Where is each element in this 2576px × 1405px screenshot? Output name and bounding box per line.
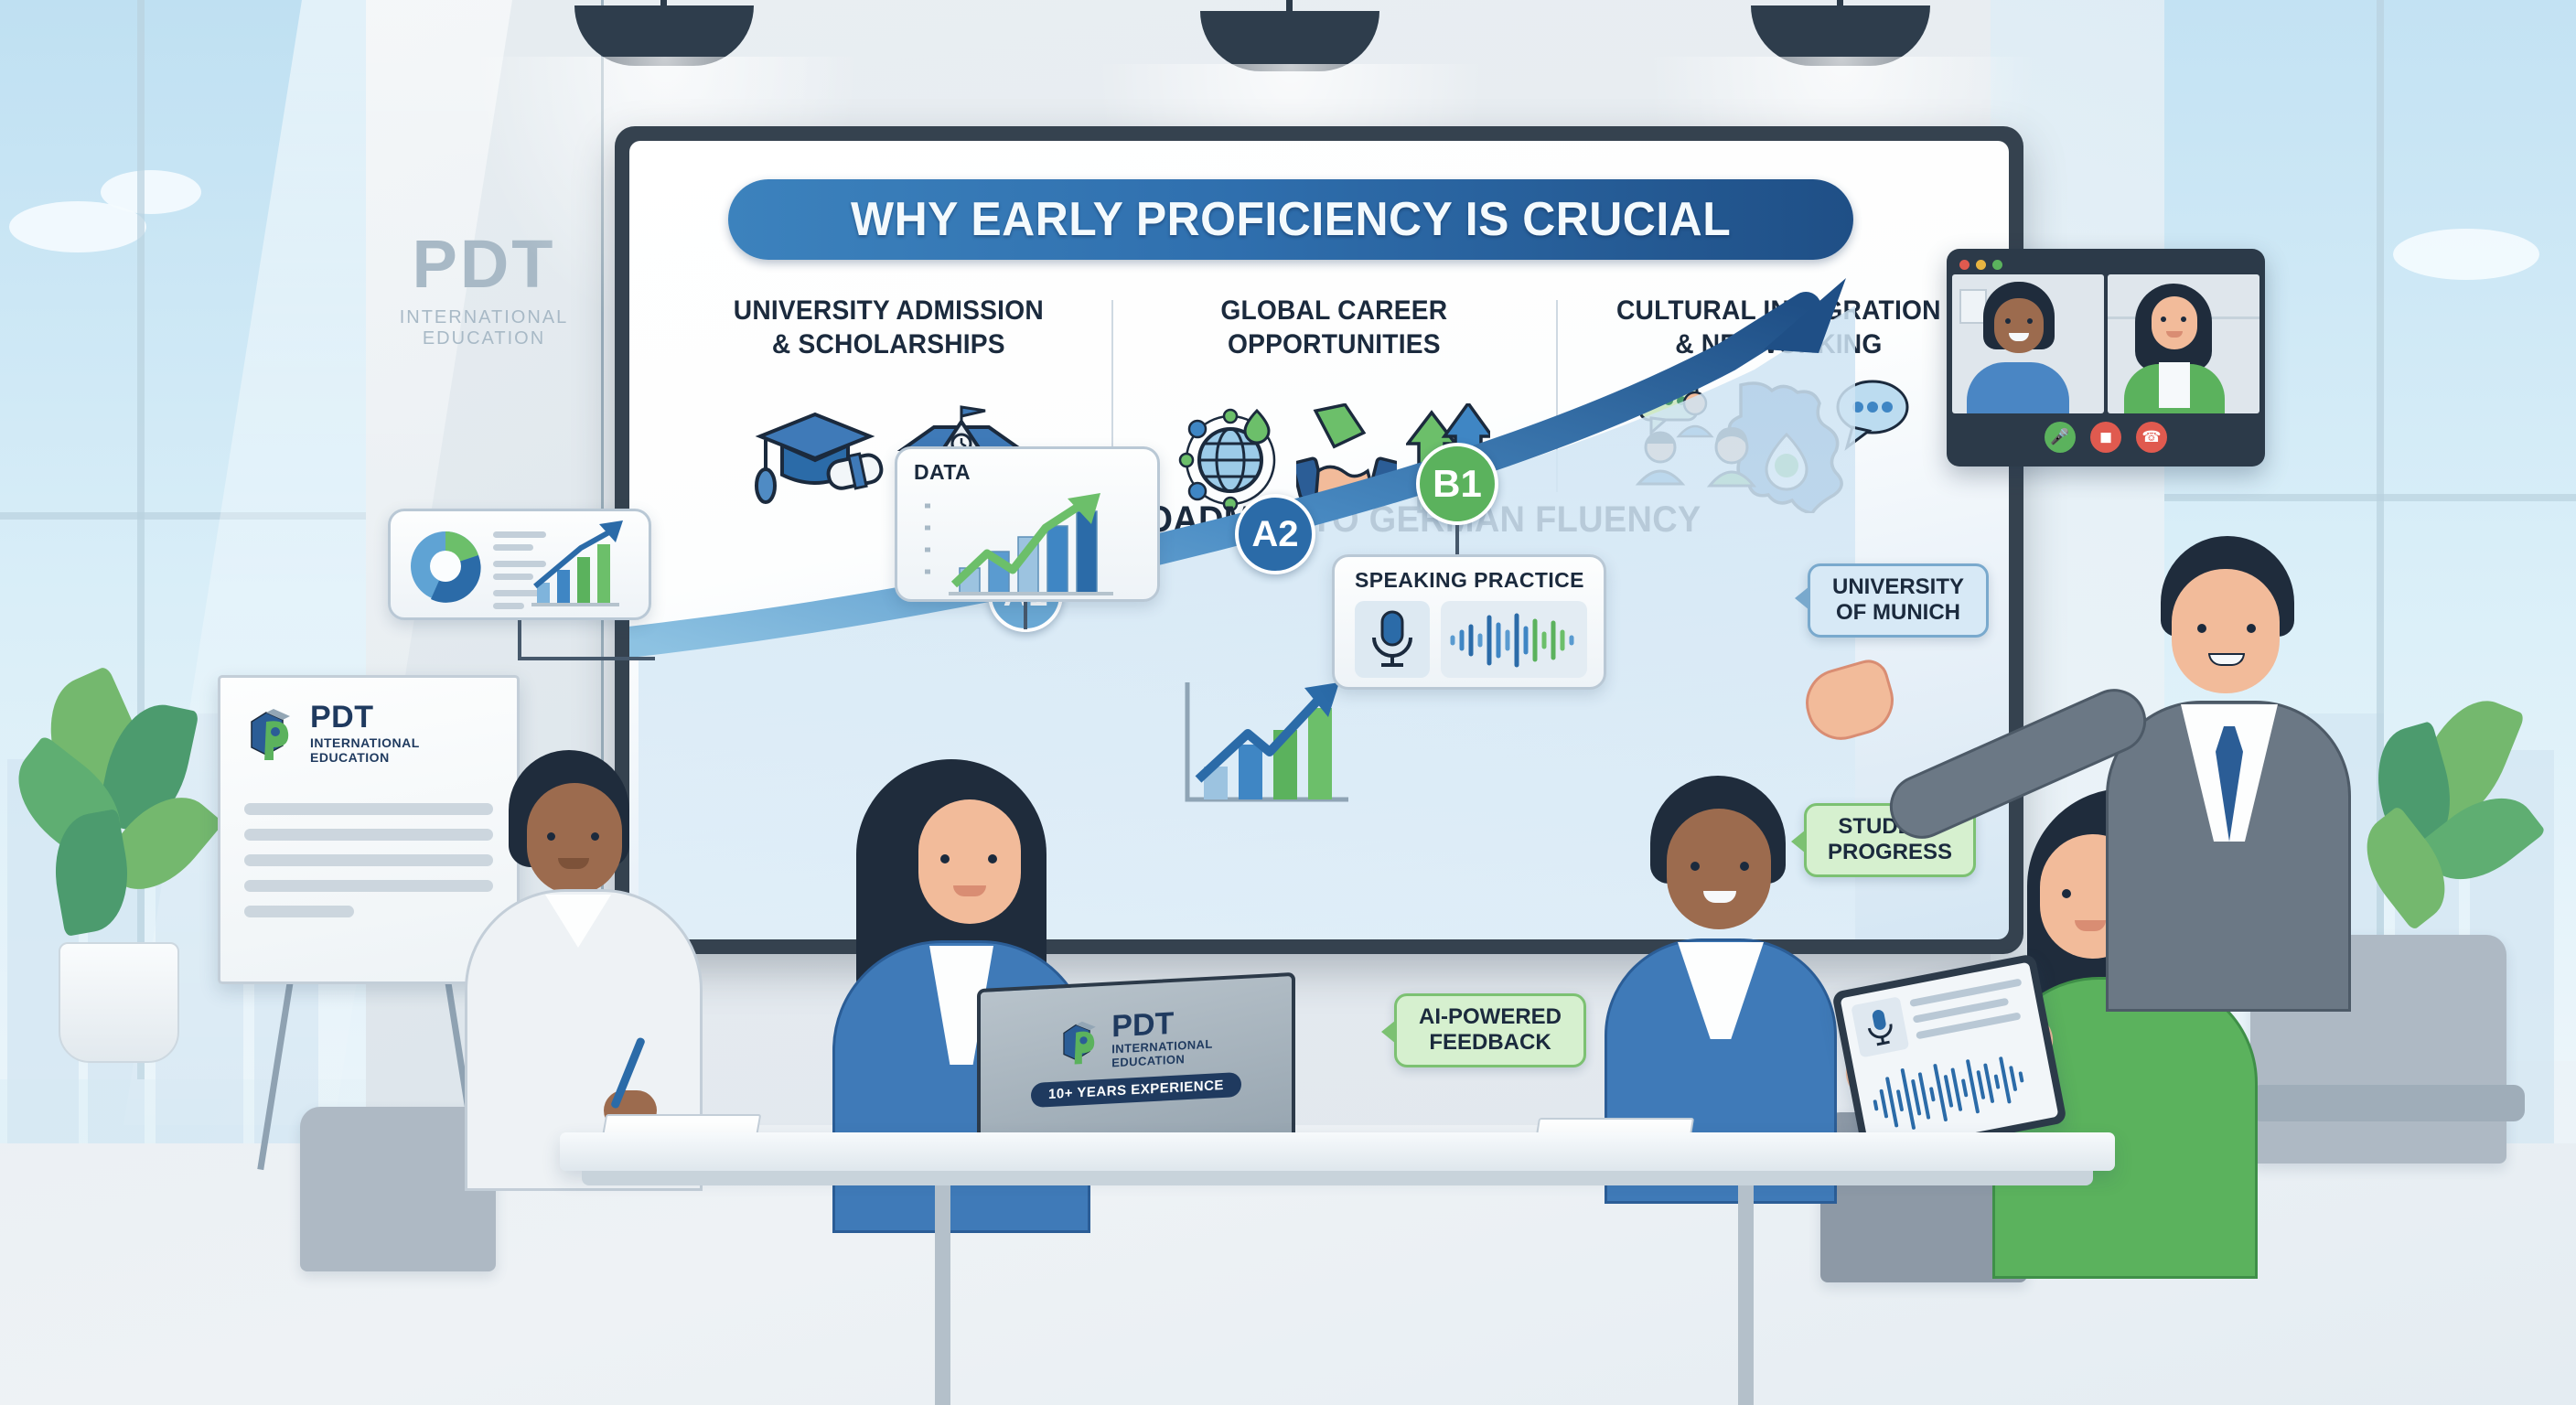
wall-brand-line1: INTERNATIONAL: [370, 307, 598, 328]
wall-brand-line2: EDUCATION: [370, 328, 598, 349]
connector-line: [518, 620, 521, 659]
face: [2172, 569, 2280, 693]
microphone-tile[interactable]: [1355, 601, 1430, 678]
speaking-practice-card[interactable]: SPEAKING PRACTICE: [1332, 554, 1606, 690]
conference-table: [560, 1132, 2115, 1171]
flipchart-brand-line2: EDUCATION: [310, 750, 420, 765]
placeholder-line: [244, 829, 493, 841]
placeholder-line: [244, 803, 493, 815]
callout-line1: AI-POWERED: [1419, 1004, 1562, 1029]
placeholder-line: [244, 906, 354, 917]
placeholder-line: [244, 880, 493, 892]
laptop-lid[interactable]: PDT INTERNATIONAL EDUCATION 10+ YEARS EX…: [977, 972, 1295, 1153]
level-badge-a2[interactable]: A2: [1235, 494, 1315, 574]
speaking-card-title: SPEAKING PRACTICE: [1355, 568, 1584, 593]
participant-grid: [1952, 274, 2259, 413]
analytics-widget[interactable]: [388, 509, 651, 620]
pdt-logo-icon: [246, 707, 299, 760]
growth-bar-chart-icon: [1182, 677, 1356, 814]
plant-pot: [59, 942, 179, 1063]
face: [918, 799, 1021, 924]
level-label: B1: [1433, 462, 1482, 506]
callout-line1: UNIVERSITY: [1832, 574, 1964, 599]
camera-button[interactable]: ◼: [2090, 422, 2121, 453]
whiteboard-screen[interactable]: WHY EARLY PROFICIENCY IS CRUCIAL UNIVERS…: [629, 141, 2009, 939]
video-tile-participant-left[interactable]: [1952, 274, 2104, 413]
table-leg: [935, 1185, 950, 1405]
callout-university-munich[interactable]: UNIVERSITY OF MUNICH: [1808, 563, 1989, 638]
end-call-button[interactable]: ☎: [2136, 422, 2167, 453]
roadmap-path: [629, 141, 2009, 939]
face: [1667, 809, 1771, 929]
chair-armrest: [2250, 1085, 2525, 1121]
microphone-icon: [1862, 1005, 1899, 1049]
waveform-tile[interactable]: [1441, 601, 1587, 678]
scene-illustration: PDT INTERNATIONAL EDUCATION WHY EARLY PR…: [0, 0, 2576, 1405]
callout-ai-feedback[interactable]: AI-POWERED FEEDBACK: [1394, 993, 1586, 1067]
window-frame: [137, 0, 145, 1079]
wall-brand-name: PDT: [370, 231, 598, 298]
maximize-icon[interactable]: [1992, 260, 2002, 270]
close-icon[interactable]: [1959, 260, 1970, 270]
window-titlebar: [1952, 254, 2259, 274]
connector-line: [518, 657, 655, 660]
mic-button[interactable]: 🎤: [2045, 422, 2076, 453]
data-card-title: DATA: [914, 460, 971, 485]
level-badge-b1[interactable]: B1: [1416, 443, 1498, 525]
bar-chart-growth-icon: [921, 489, 1150, 597]
microphone-icon: [1365, 608, 1420, 670]
flipchart-logo: PDT INTERNATIONAL EDUCATION: [220, 678, 517, 765]
pdt-logo-icon: [1059, 1019, 1103, 1066]
cloud-icon: [2393, 229, 2539, 280]
level-label: A2: [1251, 514, 1298, 555]
laptop-experience-badge: 10+ YEARS EXPERIENCE: [1031, 1072, 1241, 1108]
flipchart-brand-line1: INTERNATIONAL: [310, 735, 420, 750]
donut-chart-icon: [411, 531, 481, 603]
data-card[interactable]: DATA: [895, 446, 1160, 602]
laptop-logo: PDT INTERNATIONAL EDUCATION: [981, 976, 1292, 1077]
callout-line2: PROGRESS: [1828, 840, 1952, 864]
table-leg: [1738, 1185, 1754, 1405]
analytics-graphics: [398, 517, 647, 617]
laptop-brand-name: PDT: [1111, 1006, 1212, 1043]
window-frame: [2377, 0, 2384, 1061]
face: [527, 783, 622, 895]
placeholder-line: [244, 854, 493, 866]
callout-line2: OF MUNICH: [1836, 600, 1960, 625]
video-tile-participant-right[interactable]: [2108, 274, 2259, 413]
waveform-icon: [1447, 608, 1581, 670]
window-frame: [2164, 494, 2576, 501]
flipchart-brand-name: PDT: [310, 702, 420, 733]
callout-line2: FEEDBACK: [1429, 1030, 1551, 1055]
flipchart-board[interactable]: PDT INTERNATIONAL EDUCATION: [218, 675, 520, 984]
minimize-icon[interactable]: [1976, 260, 1986, 270]
cloud-icon: [101, 170, 201, 214]
call-controls: 🎤 ◼ ☎: [1952, 413, 2259, 461]
wall-branding: PDT INTERNATIONAL EDUCATION: [370, 231, 598, 349]
video-call-window[interactable]: 🎤 ◼ ☎: [1947, 249, 2265, 467]
